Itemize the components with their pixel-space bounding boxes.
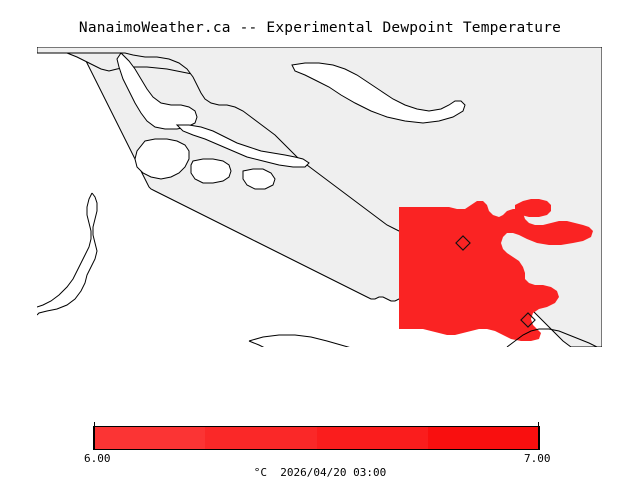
- island-outline-gulf-long-south: [249, 341, 391, 347]
- colorbar-label-max: 7.00: [524, 452, 551, 465]
- water-bay-small-b: [191, 159, 231, 183]
- island-outline-west-inner: [37, 193, 92, 307]
- colorbar-segment-1: [94, 427, 205, 449]
- colorbar-label-min: 6.00: [84, 452, 111, 465]
- map-graphic: [37, 47, 602, 347]
- colorbar-tick-min: [94, 422, 95, 450]
- island-outline-gulf-long: [249, 335, 391, 347]
- colorbar-segment-3: [317, 427, 428, 449]
- colorbar-segment-2: [205, 427, 316, 449]
- colorbar-legend: 6.00 7.00 °C 2026/04/20 03:00: [0, 418, 640, 480]
- page-title: NanaimoWeather.ca -- Experimental Dewpoi…: [0, 20, 640, 36]
- island-outline-west: [37, 193, 97, 315]
- map-canvas[interactable]: [37, 47, 602, 347]
- colorbar-caption: °C 2026/04/20 03:00: [0, 466, 640, 479]
- colorbar[interactable]: [93, 426, 540, 450]
- colorbar-segment-4: [428, 427, 539, 449]
- colorbar-tick-max: [538, 422, 539, 450]
